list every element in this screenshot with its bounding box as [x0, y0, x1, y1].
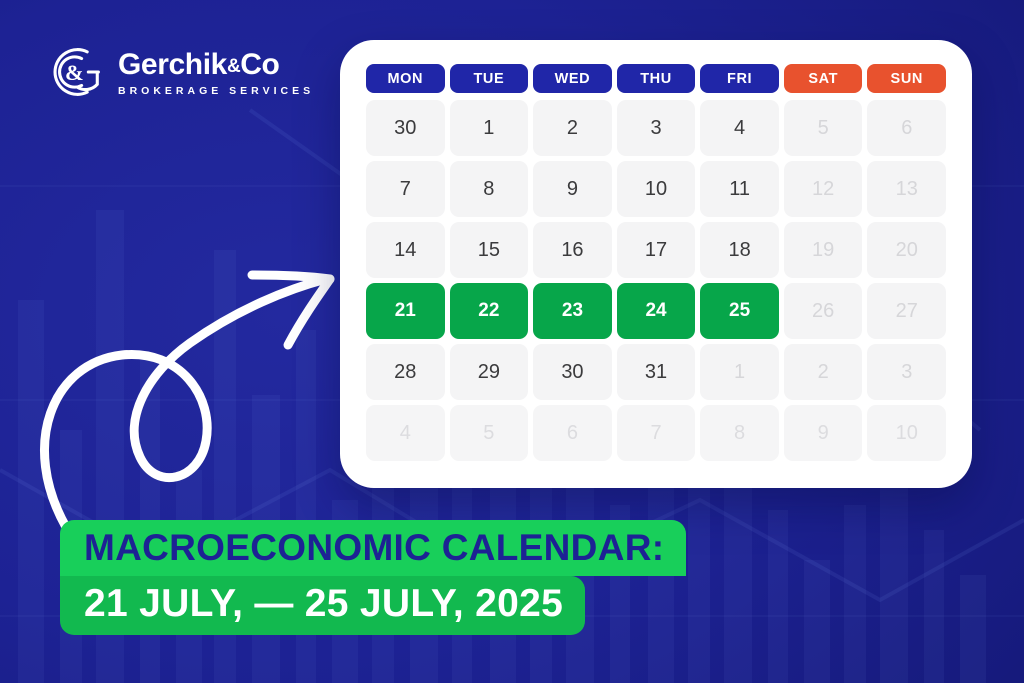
day-cell[interactable]: 20: [867, 222, 946, 278]
day-cell[interactable]: 17: [617, 222, 696, 278]
day-cell[interactable]: 10: [867, 405, 946, 461]
day-cell[interactable]: 12: [784, 161, 863, 217]
day-cell[interactable]: 14: [366, 222, 445, 278]
day-cell[interactable]: 11: [700, 161, 779, 217]
day-cell[interactable]: 21: [366, 283, 445, 339]
calendar-grid: 3012345678910111213141516171819202122232…: [366, 100, 946, 461]
weekday-header-tue: TUE: [450, 64, 529, 93]
curved-loop-arrow-icon: [30, 255, 360, 530]
day-cell[interactable]: 26: [784, 283, 863, 339]
day-cell[interactable]: 6: [867, 100, 946, 156]
day-cell[interactable]: 5: [784, 100, 863, 156]
banner-title-line-2: 21 JULY, — 25 JULY, 2025: [60, 576, 585, 635]
day-cell[interactable]: 13: [867, 161, 946, 217]
svg-text:&: &: [65, 60, 84, 85]
gerchik-monogram-icon: &: [48, 44, 104, 100]
day-cell[interactable]: 15: [450, 222, 529, 278]
day-cell[interactable]: 1: [700, 344, 779, 400]
day-cell[interactable]: 8: [700, 405, 779, 461]
day-cell[interactable]: 1: [450, 100, 529, 156]
calendar-week-row: 14151617181920: [366, 222, 946, 278]
day-cell[interactable]: 22: [450, 283, 529, 339]
day-cell[interactable]: 30: [533, 344, 612, 400]
day-cell[interactable]: 10: [617, 161, 696, 217]
day-cell[interactable]: 28: [366, 344, 445, 400]
calendar-week-row: 21222324252627: [366, 283, 946, 339]
brand-wordmark-co: Co: [240, 48, 279, 81]
day-cell[interactable]: 25: [700, 283, 779, 339]
day-cell[interactable]: 9: [784, 405, 863, 461]
brand-wordmark: Gerchik&Co: [118, 49, 314, 80]
day-cell[interactable]: 8: [450, 161, 529, 217]
day-cell[interactable]: 7: [617, 405, 696, 461]
day-cell[interactable]: 24: [617, 283, 696, 339]
calendar-week-row: 30123456: [366, 100, 946, 156]
day-cell[interactable]: 3: [867, 344, 946, 400]
day-cell[interactable]: 29: [450, 344, 529, 400]
brand-wordmark-ampersand: &: [227, 56, 240, 77]
day-cell[interactable]: 6: [533, 405, 612, 461]
day-cell[interactable]: 5: [450, 405, 529, 461]
calendar-week-row: 28293031123: [366, 344, 946, 400]
calendar-week-row: 78910111213: [366, 161, 946, 217]
calendar-week-row: 45678910: [366, 405, 946, 461]
day-cell[interactable]: 9: [533, 161, 612, 217]
day-cell[interactable]: 2: [784, 344, 863, 400]
weekday-header-fri: FRI: [700, 64, 779, 93]
day-cell[interactable]: 7: [366, 161, 445, 217]
day-cell[interactable]: 27: [867, 283, 946, 339]
brand-wordmark-main: Gerchik: [118, 48, 227, 81]
title-banner: MACROECONOMIC CALENDAR: 21 JULY, — 25 JU…: [60, 520, 1024, 635]
day-cell[interactable]: 16: [533, 222, 612, 278]
day-cell[interactable]: 2: [533, 100, 612, 156]
weekday-header-mon: MON: [366, 64, 445, 93]
day-cell[interactable]: 30: [366, 100, 445, 156]
day-cell[interactable]: 19: [784, 222, 863, 278]
banner-title-line-1: MACROECONOMIC CALENDAR:: [60, 520, 686, 576]
weekday-header-row: MONTUEWEDTHUFRISATSUN: [366, 64, 946, 93]
day-cell[interactable]: 18: [700, 222, 779, 278]
brand-tagline: BROKERAGE SERVICES: [118, 85, 314, 97]
weekday-header-wed: WED: [533, 64, 612, 93]
weekday-header-sun: SUN: [867, 64, 946, 93]
day-cell[interactable]: 4: [366, 405, 445, 461]
weekday-header-thu: THU: [617, 64, 696, 93]
day-cell[interactable]: 3: [617, 100, 696, 156]
day-cell[interactable]: 4: [700, 100, 779, 156]
weekday-header-sat: SAT: [784, 64, 863, 93]
day-cell[interactable]: 23: [533, 283, 612, 339]
brand-logo[interactable]: & Gerchik&Co BROKERAGE SERVICES: [48, 44, 314, 100]
calendar-card: MONTUEWEDTHUFRISATSUN 301234567891011121…: [340, 40, 972, 488]
day-cell[interactable]: 31: [617, 344, 696, 400]
